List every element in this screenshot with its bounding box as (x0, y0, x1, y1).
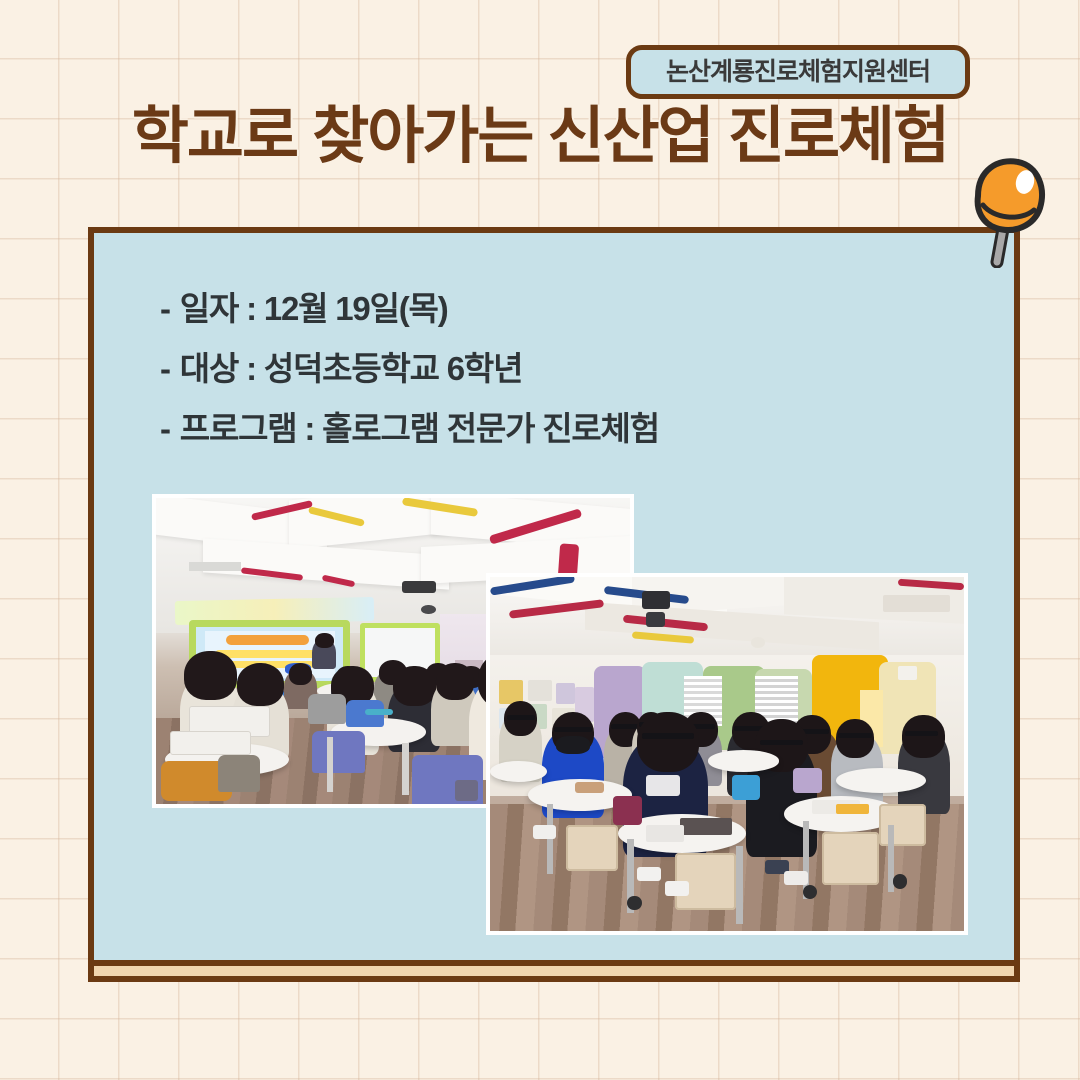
info-dash-program: - (160, 412, 170, 445)
board-bottom-ledge (88, 960, 1020, 982)
program-info-list: -일자 : 12월 19일(목) -대상 : 성덕초등학교 6학년 -프로그램 … (160, 292, 920, 472)
info-line-program: -프로그램 : 홀로그램 전문가 진로체험 (160, 412, 920, 445)
page-title: 학교로 찾아가는 신산업 진로체험 (0, 103, 1080, 171)
info-line-target: -대상 : 성덕초등학교 6학년 (160, 352, 920, 385)
info-text-target: 대상 : 성덕초등학교 6학년 (180, 350, 522, 387)
push-pin-icon (948, 152, 1052, 268)
organization-badge: 논산계룡진로체험지원센터 (626, 45, 970, 99)
info-dash-target: - (160, 352, 170, 385)
info-line-date: -일자 : 12월 19일(목) (160, 292, 920, 325)
poster-canvas: 논산계룡진로체험지원센터 학교로 찾아가는 신산업 진로체험 -일자 : 12월… (0, 0, 1080, 1080)
info-text-date: 일자 : 12월 19일(목) (180, 290, 448, 327)
info-dash-date: - (160, 292, 170, 325)
info-text-program: 프로그램 : 홀로그램 전문가 진로체험 (180, 410, 659, 447)
students-3d-glasses-photo (486, 573, 968, 935)
organization-badge-label: 논산계룡진로체험지원센터 (666, 60, 930, 85)
